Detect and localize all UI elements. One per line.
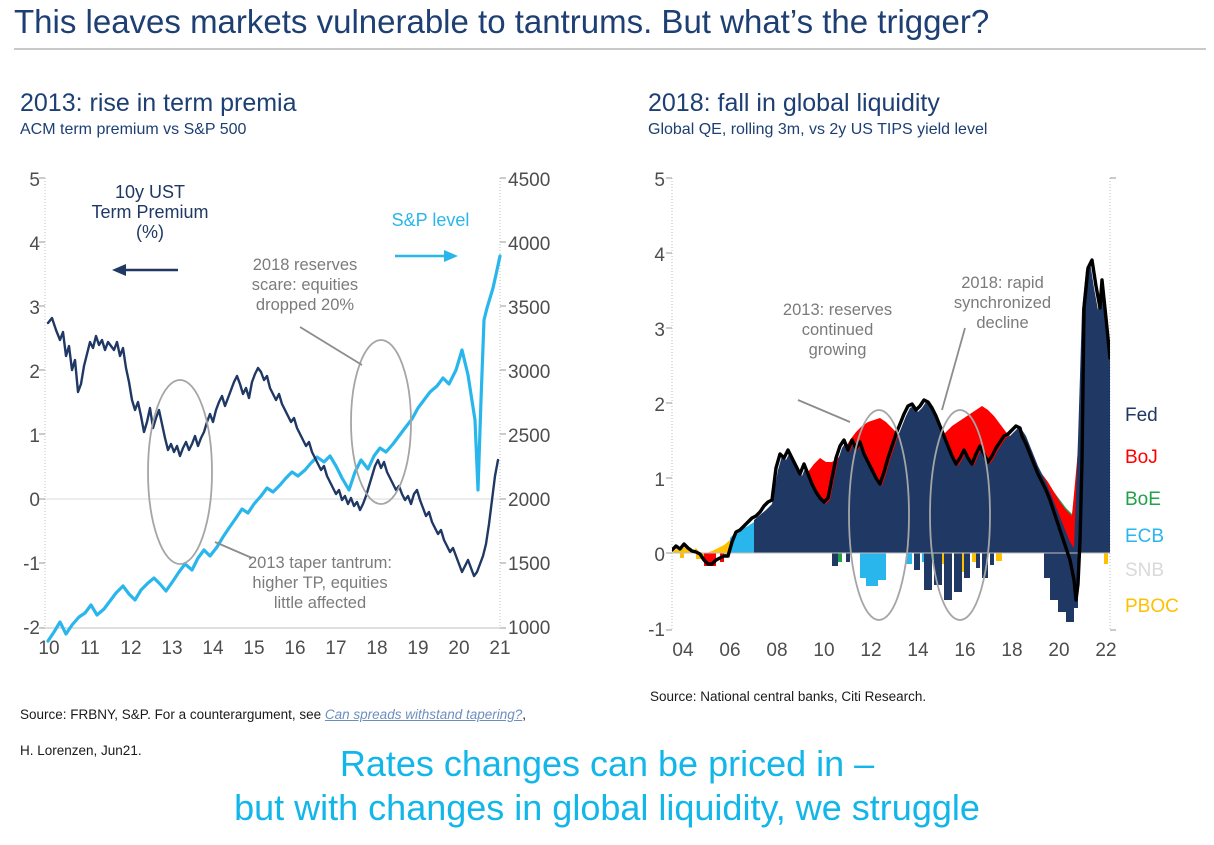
right-chart: 5 4 3 2 1 0 -1 — [620, 160, 1214, 660]
page-title: This leaves markets vulnerable to tantru… — [14, 2, 1204, 42]
right-chart-subtitle: Global QE, rolling 3m, vs 2y US TIPS yie… — [648, 120, 987, 140]
left-xtick-21: 21 — [470, 638, 530, 660]
right-chart-source: Source: National central banks, Citi Res… — [650, 688, 1170, 706]
legend-item-fed: Fed — [1125, 405, 1158, 427]
left-chart: 5 4 3 2 1 0 -1 -2 4500 4000 3500 3000 25… — [0, 160, 600, 660]
right-chart-title: 2018: fall in global liquidity — [648, 88, 940, 118]
left-series-label-spx: S&P level — [368, 210, 493, 230]
legend-item-boe: BoE — [1125, 489, 1161, 511]
legend-item-snb: SNB — [1125, 560, 1164, 582]
legend-item-ecb: ECB — [1125, 526, 1164, 548]
left-source-suffix: , — [522, 707, 526, 722]
left-chart-subtitle: ACM term premium vs S&P 500 — [20, 120, 246, 140]
right-annotation-2018: 2018: rapid synchronized decline — [920, 273, 1085, 333]
legend-item-boj: BoJ — [1125, 447, 1158, 469]
term-premium-arrow — [112, 264, 178, 276]
left-annotation-2018: 2018 reserves scare: equities dropped 20… — [225, 255, 385, 315]
title-divider — [14, 48, 1206, 50]
legend-item-pboc: PBOC — [1125, 596, 1179, 618]
left-source-prefix: Source: FRBNY, S&P. For a counterargumen… — [20, 707, 325, 722]
left-annotation-2013: 2013 taper tantrum: higher TP, equities … — [220, 553, 420, 613]
slide-footer-message: Rates changes can be priced in – but wit… — [0, 742, 1214, 830]
left-chart-title: 2013: rise in term premia — [20, 88, 297, 118]
right-xtick-22: 22 — [1076, 640, 1136, 662]
left-series-label-term-premium: 10y UST Term Premium (%) — [75, 182, 225, 242]
spx-arrow — [395, 250, 458, 262]
right-annotation-2013: 2013: reserves continued growing — [750, 300, 925, 360]
left-source-link[interactable]: Can spreads withstand tapering? — [325, 707, 522, 722]
